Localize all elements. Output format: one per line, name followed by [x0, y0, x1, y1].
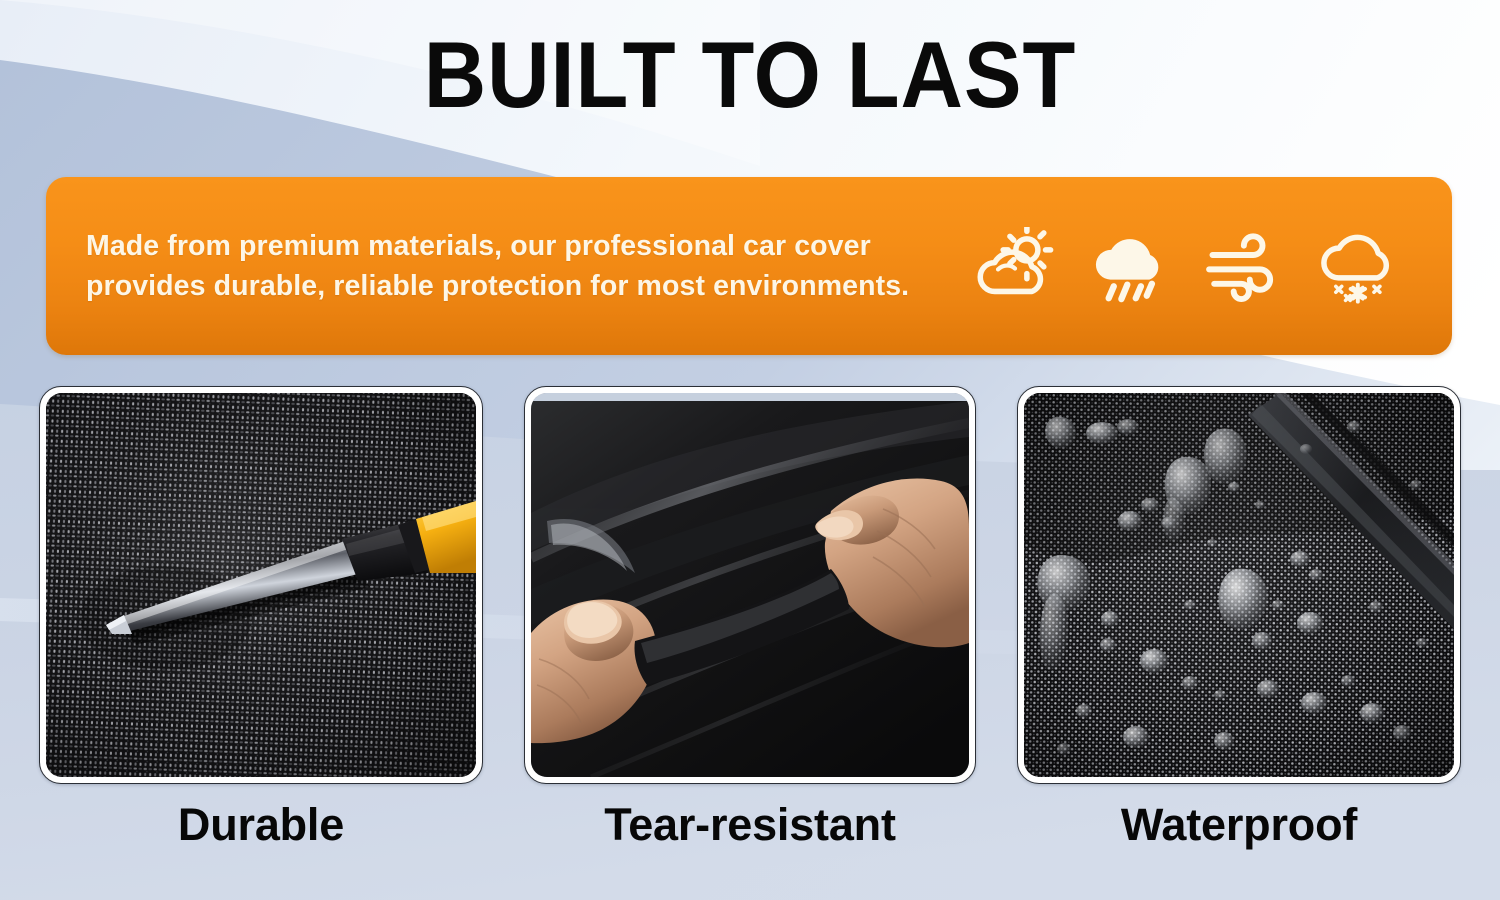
- feature-label: Waterproof: [1121, 799, 1357, 851]
- sun-behind-cloud-icon: [972, 227, 1058, 305]
- description-banner: Made from premium materials, our profess…: [46, 177, 1452, 355]
- photo-frame: [39, 386, 483, 784]
- hands-stretching-black-material-photo: [531, 393, 969, 777]
- rain-cloud-icon: [1086, 227, 1172, 305]
- feature-label: Tear-resistant: [604, 799, 895, 851]
- weather-icons-group: [972, 227, 1426, 305]
- wind-icon: [1200, 227, 1286, 305]
- water-beading-on-fabric-photo: [1024, 393, 1454, 777]
- snow-cloud-icon: [1314, 227, 1400, 305]
- photo-frame: [524, 386, 976, 784]
- feature-durable: Durable: [39, 386, 483, 851]
- feature-waterproof: Waterproof: [1017, 386, 1461, 851]
- feature-panels: Durable: [0, 386, 1500, 851]
- page-title-wrap: BUILT TO LAST: [0, 26, 1500, 124]
- feature-tear-resistant: Tear-resistant: [524, 386, 976, 851]
- photo-frame: [1017, 386, 1461, 784]
- page-title: BUILT TO LAST: [60, 26, 1440, 124]
- feature-label: Durable: [178, 799, 344, 851]
- woven-fabric-with-screwdriver-photo: [46, 393, 476, 777]
- description-text: Made from premium materials, our profess…: [86, 226, 972, 307]
